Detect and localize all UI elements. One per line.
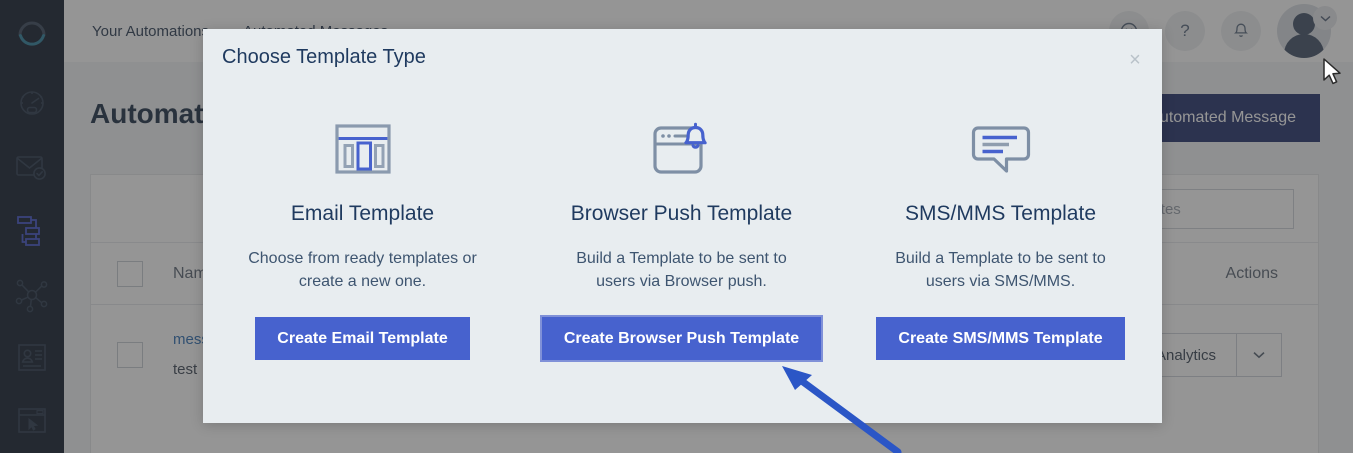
- dialog-title: Choose Template Type: [222, 46, 426, 69]
- close-icon[interactable]: ×: [1122, 47, 1148, 73]
- card-sms-mms-template: SMS/MMS Template Build a Template to be …: [841, 101, 1160, 360]
- template-type-cards: Email Template Choose from ready templat…: [203, 101, 1162, 360]
- card-title: Browser Push Template: [571, 202, 792, 226]
- create-browser-push-template-button[interactable]: Create Browser Push Template: [542, 317, 821, 360]
- card-description: Build a Template to be sent to users via…: [876, 248, 1126, 293]
- card-title: Email Template: [291, 202, 434, 226]
- choose-template-type-dialog: Choose Template Type × Email Template Ch…: [203, 29, 1162, 423]
- mouse-cursor: [1322, 58, 1344, 88]
- speech-bubble-icon: [969, 101, 1033, 179]
- browser-bell-icon: [650, 101, 714, 179]
- create-email-template-button[interactable]: Create Email Template: [255, 317, 469, 360]
- card-email-template: Email Template Choose from ready templat…: [203, 101, 522, 360]
- card-title: SMS/MMS Template: [905, 202, 1096, 226]
- card-description: Choose from ready templates or create a …: [238, 248, 488, 293]
- card-description: Build a Template to be sent to users via…: [557, 248, 807, 293]
- card-browser-push-template: Browser Push Template Build a Template t…: [522, 101, 841, 360]
- email-layout-icon: [332, 101, 394, 179]
- app-root: Your Automations Automated Messages ?: [0, 0, 1353, 453]
- create-sms-mms-template-button[interactable]: Create SMS/MMS Template: [876, 317, 1124, 360]
